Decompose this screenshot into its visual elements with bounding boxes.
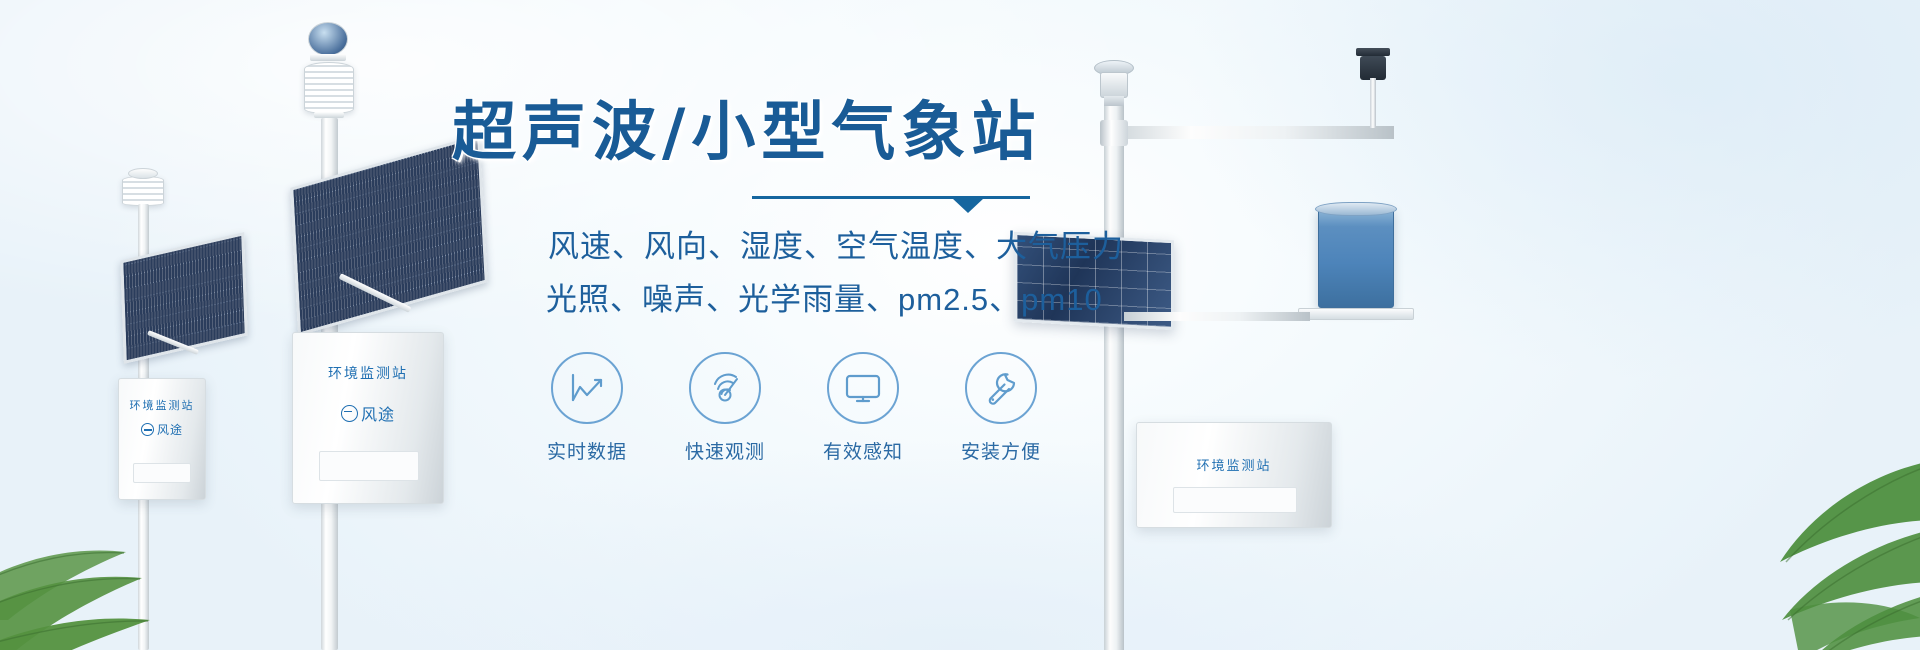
wrench-icon — [965, 352, 1037, 424]
brand-mark-icon — [141, 423, 154, 436]
enclosure-cabinet: 环境监测站 风途 — [292, 332, 444, 504]
cabinet-vent — [319, 451, 419, 481]
station-mast — [1104, 106, 1124, 650]
brand-logo: 风途 — [141, 421, 183, 438]
wind-vane-icon — [1360, 56, 1386, 80]
enclosure-cabinet: 环境监测站 风途 — [118, 378, 206, 500]
equipment-shelf — [1298, 308, 1414, 320]
radar-signal-icon — [689, 352, 761, 424]
arrow-divider — [752, 192, 1030, 206]
divider-triangle-icon — [952, 198, 984, 213]
monitor-screen-icon — [827, 352, 899, 424]
feature-label: 实时数据 — [547, 437, 627, 464]
cabinet-label: 环境监测站 — [328, 363, 408, 383]
feature-item-fast-observation[interactable]: 快速观测 — [682, 352, 768, 464]
brand-logo: 风途 — [341, 401, 395, 425]
feature-item-easy-installation[interactable]: 安装方便 — [958, 352, 1044, 464]
brand-label: 风途 — [157, 421, 183, 438]
enclosure-cabinet: 环境监测站 — [1136, 422, 1332, 528]
radiation-shield-icon — [122, 176, 164, 206]
subtitle-line-1: 风速、风向、湿度、空气温度、大气压力 — [548, 220, 1072, 273]
wind-vane-tail — [1356, 48, 1390, 56]
feature-label: 安装方便 — [961, 437, 1041, 464]
rain-gauge — [1318, 208, 1394, 308]
feature-item-realtime-data[interactable]: 实时数据 — [544, 352, 630, 464]
brand-label: 风途 — [361, 401, 395, 425]
divider-line — [752, 196, 1030, 199]
wind-vane-pole — [1370, 78, 1376, 128]
dome-base — [310, 54, 346, 61]
cabinet-vent — [1173, 487, 1297, 513]
radiation-shield-icon — [304, 62, 354, 114]
mast-collar — [1100, 120, 1128, 146]
line-chart-icon — [551, 352, 623, 424]
subtitle-line-2: 光照、噪声、光学雨量、pm2.5、pm10 — [546, 273, 1072, 326]
subtitle-block: 风速、风向、湿度、空气温度、大气压力 光照、噪声、光学雨量、pm2.5、pm10 — [548, 220, 1072, 327]
cross-arm — [1104, 126, 1394, 139]
weather-station-banner: 环境监测站 风途 环境监测站 风途 — [0, 0, 1920, 650]
feature-item-effective-sensing[interactable]: 有效感知 — [820, 352, 906, 464]
weather-station-right: 环境监测站 — [1060, 40, 1460, 650]
shelf-bracket — [1124, 312, 1310, 321]
sensor-cap-icon — [128, 168, 158, 179]
page-title: 超声波/小型气象站 — [452, 96, 1072, 170]
decorative-leaf-right — [1590, 380, 1920, 650]
feature-label: 快速观测 — [685, 437, 765, 464]
cabinet-label: 环境监测站 — [130, 397, 195, 413]
cabinet-vent — [133, 463, 191, 483]
sensor-dome-icon — [308, 22, 348, 56]
ultrasonic-anemometer-body — [1100, 72, 1128, 98]
feature-label: 有效感知 — [823, 437, 903, 464]
feature-list: 实时数据 快速观测 — [544, 352, 1072, 464]
cabinet-label: 环境监测站 — [1196, 455, 1271, 474]
brand-mark-icon — [341, 405, 358, 422]
banner-content: 超声波/小型气象站 风速、风向、湿度、空气温度、大气压力 光照、噪声、光学雨量、… — [452, 96, 1072, 476]
